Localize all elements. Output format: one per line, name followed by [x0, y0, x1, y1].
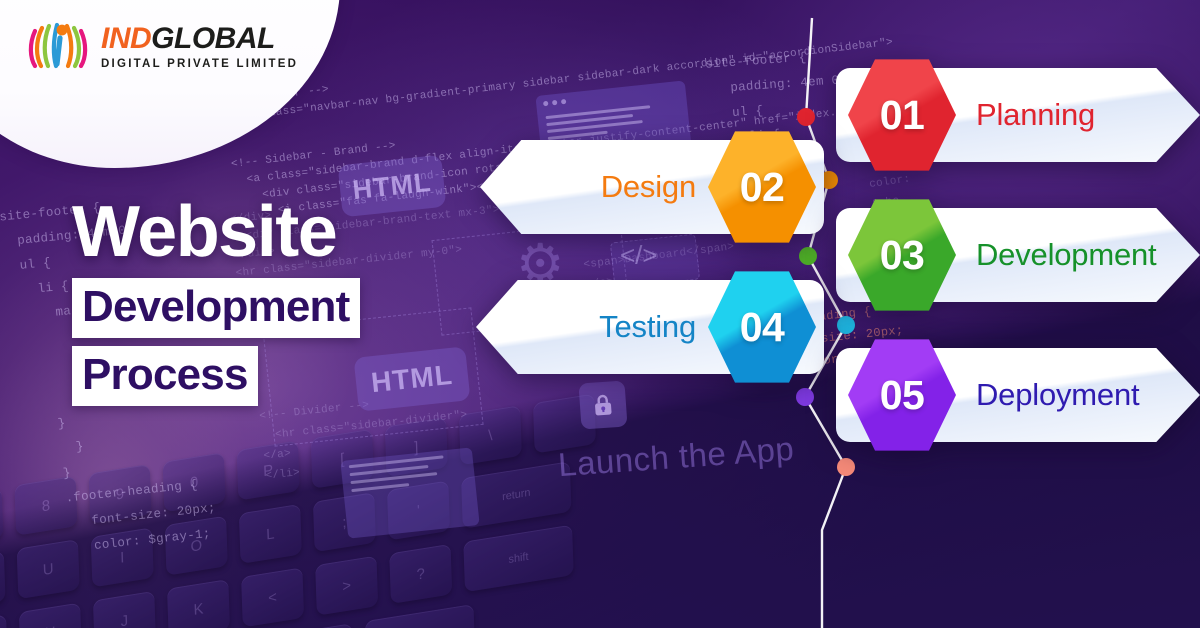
indglobal-arc-logo-icon [26, 14, 90, 78]
code-snippet-bottom-left-2: } } } .footer-heading { font-size: 20px;… [57, 397, 220, 562]
page-title: Website Development Process [72, 196, 360, 406]
key: Y [0, 551, 6, 611]
key: \ [459, 405, 522, 465]
step-number: 01 [880, 92, 925, 139]
step-label: Development [976, 237, 1156, 273]
key: G [0, 614, 8, 628]
browser-mockup [340, 447, 479, 538]
key: option [365, 604, 475, 628]
headline-line-1: Website [72, 196, 360, 268]
step-number: 02 [740, 164, 785, 211]
key: ? [389, 544, 452, 604]
connector-dot [797, 108, 815, 126]
key: < [241, 567, 304, 627]
browser-dots [535, 80, 686, 113]
lock-icon [578, 380, 627, 429]
html-badge: HTML [353, 346, 470, 411]
key [533, 394, 596, 454]
key: ; [313, 492, 376, 552]
key: 8 [14, 476, 77, 536]
connector-dot [799, 247, 817, 265]
key: K [167, 579, 230, 628]
key: 7 [0, 487, 3, 547]
step-number: 03 [880, 232, 925, 279]
step-number: 04 [740, 304, 785, 351]
key: H [19, 603, 82, 628]
headline-line-2: Development [72, 278, 360, 338]
brand-name-part2: GLOBAL [151, 22, 275, 55]
step-card-deployment[interactable]: Deployment 05 [836, 348, 1200, 442]
key: ' [387, 480, 450, 540]
key: J [93, 591, 156, 628]
connector-dot [837, 316, 855, 334]
key: U [17, 539, 80, 599]
key: 9 [89, 464, 152, 524]
key: return [461, 461, 571, 529]
step-label: Planning [976, 97, 1095, 133]
headline-line-3: Process [72, 346, 258, 406]
brand-logo[interactable]: INDGLOBAL DIGITAL PRIVATE LIMITED [26, 14, 298, 78]
step-number: 05 [880, 372, 925, 419]
step-card-planning[interactable]: Planning 01 [836, 68, 1200, 162]
brand-text: INDGLOBAL DIGITAL PRIVATE LIMITED [101, 22, 298, 70]
key: command [243, 623, 353, 628]
brand-name-part1: IND [101, 22, 151, 55]
key: ] [385, 417, 448, 477]
connector-dot [796, 388, 814, 406]
brand-tagline: DIGITAL PRIVATE LIMITED [101, 58, 298, 70]
key: 0 [163, 452, 226, 512]
connector-dot-extra [837, 458, 855, 476]
step-card-design[interactable]: Design 02 [480, 140, 824, 234]
brand-name: INDGLOBAL [101, 24, 298, 54]
step-card-testing[interactable]: Testing 04 [476, 280, 824, 374]
key: P [237, 440, 300, 500]
key: > [315, 556, 378, 616]
key: O [165, 516, 228, 576]
step-label: Deployment [976, 377, 1139, 413]
key: L [239, 504, 302, 564]
key: [ [311, 429, 374, 489]
infographic-canvas: 7 8 9 0 P [ ] \ Y U I O L ; ' return G H… [0, 0, 1200, 628]
key: I [91, 527, 154, 587]
code-brackets-icon: </> [620, 240, 658, 271]
launch-watermark: Launch the App [557, 432, 795, 482]
step-card-development[interactable]: Development 03 [836, 208, 1200, 302]
key: shift [463, 525, 573, 593]
